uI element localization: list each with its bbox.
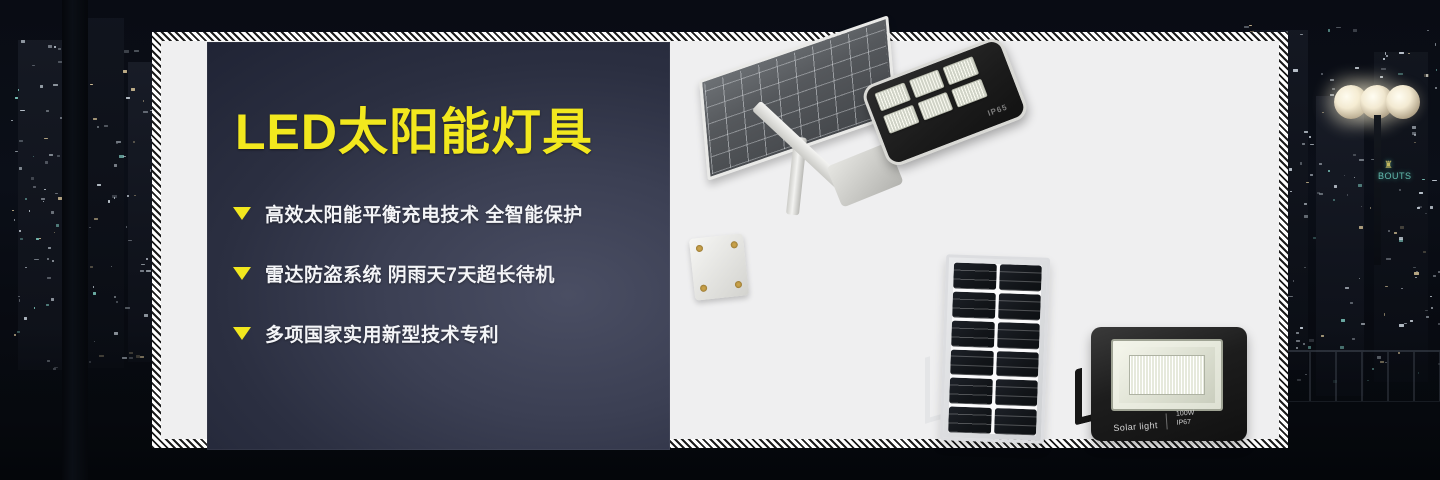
solar-cell-grid [948, 263, 1042, 436]
flood-light-housing: Solar light 100W IP67 [1091, 327, 1247, 441]
ip-rating-label: IP65 [986, 103, 1008, 118]
headline-panel: LED太阳能灯具 高效太阳能平衡充电技术 全智能保护 雷达防盗系统 阴雨天7天超… [207, 42, 670, 450]
neon-sign: ♜ BOUTS [1378, 160, 1412, 181]
feature-text: 高效太阳能平衡充电技术 全智能保护 [265, 200, 583, 227]
crest-icon: ♜ [1384, 160, 1412, 171]
foreground-pillar [62, 0, 88, 480]
street-lamp-icon [1332, 85, 1424, 131]
power-rating: 100W [1176, 410, 1195, 418]
neon-sign-text: BOUTS [1378, 171, 1412, 181]
triangle-down-icon [233, 327, 251, 340]
product-solar-panel [925, 256, 1047, 446]
list-item: 雷达防盗系统 阴雨天7天超长待机 [233, 260, 653, 287]
solar-panel-body [940, 254, 1050, 444]
flood-light-lens [1111, 339, 1223, 411]
promotional-banner: ♜ BOUTS LED太阳能灯具 高效太阳能平衡充电技术 全智能保护 雷达防盗系… [0, 0, 1440, 480]
ingress-rating: IP67 [1176, 419, 1191, 427]
feature-list: 高效太阳能平衡充电技术 全智能保护 雷达防盗系统 阴雨天7天超长待机 多项国家实… [233, 200, 653, 380]
product-showcase: IP65 Solar light 100W [670, 41, 1280, 450]
feature-text: 多项国家实用新型技术专利 [265, 320, 499, 347]
page-title: LED太阳能灯具 [235, 92, 593, 164]
triangle-down-icon [233, 267, 251, 280]
product-spec-label: 100W IP67 [1176, 409, 1196, 429]
triangle-down-icon [233, 207, 251, 220]
product-flood-light: Solar light 100W IP67 [1075, 321, 1255, 449]
list-item: 多项国家实用新型技术专利 [233, 320, 653, 347]
product-name-label: Solar light [1113, 420, 1158, 433]
feature-text: 雷达防盗系统 阴雨天7天超长待机 [265, 260, 555, 287]
list-item: 高效太阳能平衡充电技术 全智能保护 [233, 200, 653, 227]
street-light-wall-bracket [689, 233, 749, 300]
label-divider [1166, 413, 1168, 429]
